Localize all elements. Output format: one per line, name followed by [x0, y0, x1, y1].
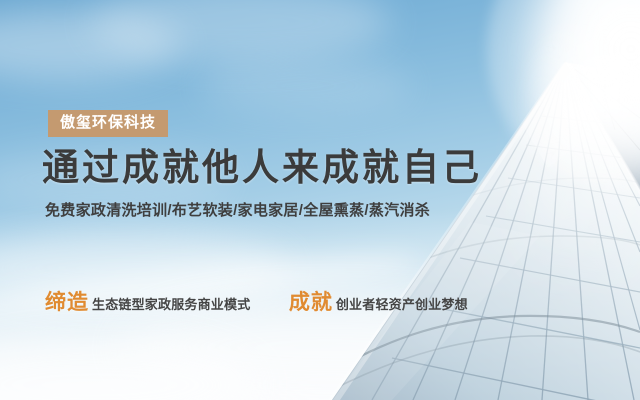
- slogan-accent: 成就: [289, 291, 333, 314]
- service-list: 免费家政清洗培训/布艺软装/家电家居/全屋熏蒸/蒸汽消杀: [45, 199, 430, 220]
- slogan-tail: 生态链型家政服务商业模式: [92, 297, 250, 312]
- headline: 通过成就他人来成就自己: [42, 147, 482, 188]
- slogan-item: 成就创业者轻资产创业梦想: [289, 286, 468, 316]
- slogan-item: 缔造生态链型家政服务商业模式: [45, 286, 250, 316]
- slogan-accent: 缔造: [45, 291, 89, 314]
- cloud-wisp: [200, 60, 410, 112]
- promo-banner: 傲玺环保科技 通过成就他人来成就自己 免费家政清洗培训/布艺软装/家电家居/全屋…: [0, 0, 640, 400]
- slogan-tail: 创业者轻资产创业梦想: [336, 297, 468, 312]
- brand-badge: 傲玺环保科技: [48, 110, 168, 137]
- slogan-row: 缔造生态链型家政服务商业模式 成就创业者轻资产创业梦想: [45, 286, 605, 316]
